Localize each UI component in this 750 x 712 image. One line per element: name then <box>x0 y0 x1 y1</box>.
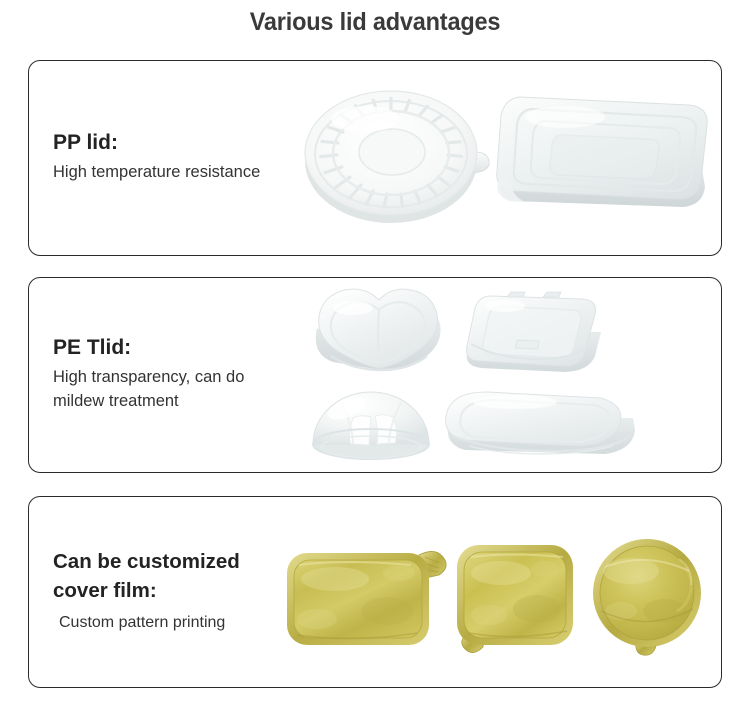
rectangular-pp-lid-image <box>493 83 713 225</box>
card-pe-lid-media <box>281 278 721 472</box>
rectangular-gold-foil-lid-image <box>283 541 455 653</box>
square-pet-lid-image <box>461 288 609 378</box>
card-cover-film-description: Custom pattern printing <box>53 611 281 634</box>
page-title: Various lid advantages <box>23 8 728 37</box>
round-pp-lid-with-tab-image <box>295 81 505 231</box>
square-gold-foil-lid-image <box>449 539 589 657</box>
card-pp-lid-heading: PP lid: <box>53 131 281 155</box>
card-pe-lid-heading: PE Tlid: <box>53 336 281 360</box>
card-cover-film-media <box>281 497 721 687</box>
card-pp-lid-text: PP lid: High temperature resistance <box>29 131 281 184</box>
card-cover-film-heading-line1: Can be customized <box>53 550 281 574</box>
card-pe-lid: PE Tlid: High transparency, can do milde… <box>28 277 722 473</box>
oval-pet-lid-image <box>441 388 641 460</box>
dome-pet-lid-image <box>305 382 437 462</box>
card-cover-film: Can be customized cover film: Custom pat… <box>28 496 722 688</box>
card-pe-lid-text: PE Tlid: High transparency, can do milde… <box>29 336 281 413</box>
card-cover-film-text: Can be customized cover film: Custom pat… <box>29 550 281 634</box>
card-pp-lid: PP lid: High temperature resistance <box>28 60 722 256</box>
round-gold-foil-lid-image <box>581 537 719 659</box>
heart-shaped-pet-lid-image <box>305 286 455 378</box>
card-cover-film-heading-line2: cover film: <box>53 579 281 603</box>
card-pe-lid-description-line2: mildew treatment <box>53 390 281 414</box>
card-pe-lid-description-line1: High transparency, can do <box>53 366 281 390</box>
card-pp-lid-media <box>281 61 721 255</box>
card-pp-lid-description: High temperature resistance <box>53 161 281 185</box>
